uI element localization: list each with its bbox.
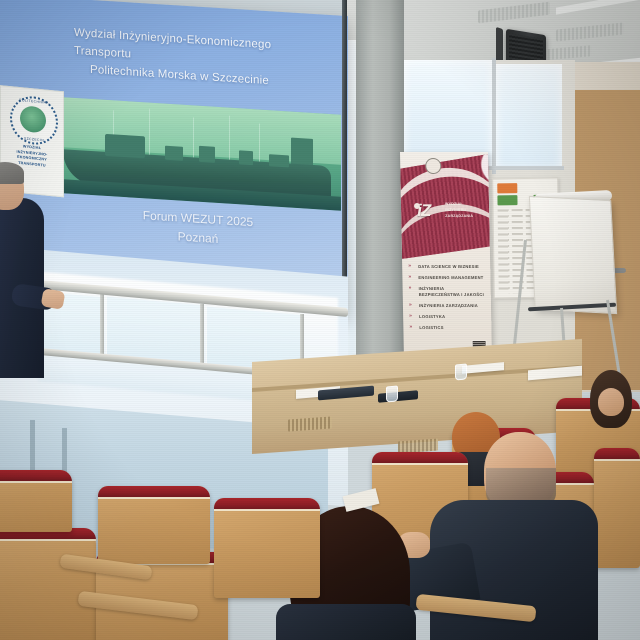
- banner-list-item: LOGISTYKA: [409, 314, 487, 320]
- banner-logo-subtitle: WYDZIAŁ INŻYNIERII ZARZĄDZANIA: [445, 202, 487, 219]
- back-window: [496, 64, 562, 170]
- seat[interactable]: [0, 528, 96, 640]
- attendee-right-head: [598, 388, 624, 416]
- banner-logo-text: iZ: [417, 200, 443, 222]
- banner-logo-subtitle-3: ZARZĄDZANIA: [445, 214, 487, 220]
- seat-trim: [0, 470, 72, 483]
- poster-text-column: [498, 209, 510, 293]
- seat[interactable]: [98, 486, 210, 564]
- seat[interactable]: [214, 498, 320, 598]
- seat[interactable]: [594, 448, 640, 568]
- screen-frame-right: [342, 0, 347, 288]
- balustrade-post: [100, 294, 104, 358]
- slide-subtitle: Forum WEZUT 2025 Poznań: [88, 203, 308, 255]
- window-mullion: [492, 58, 496, 174]
- crane-mast-icon: [229, 116, 230, 164]
- banner-list-item: DATA SCIENCE W BIZNESIE: [408, 264, 486, 270]
- poster-box-green: [497, 195, 517, 205]
- concrete-column: [356, 0, 404, 395]
- glass-balustrade-panel: [106, 296, 204, 365]
- seat-trim: [214, 498, 320, 511]
- banner-program-list: DATA SCIENCE W BIZNESIE ENGINEERING MANA…: [408, 264, 487, 336]
- balustrade-post: [200, 304, 204, 368]
- water-glass[interactable]: [455, 363, 467, 380]
- seal-ring-bottom: SZCZECIN: [12, 135, 56, 143]
- ship-deck-structure: [199, 146, 215, 163]
- seal-ring-text: POLITECHNIKA SZCZECIN: [12, 96, 56, 144]
- flipchart-easel: [529, 196, 617, 314]
- attendee-front-left-body: [276, 604, 416, 640]
- banner-crest-icon: [425, 158, 441, 174]
- crane-mast-icon: [149, 109, 150, 159]
- seat[interactable]: [0, 470, 72, 532]
- slide-photo: [53, 97, 341, 211]
- seat-trim: [594, 448, 640, 461]
- poster-box-orange: [497, 183, 517, 193]
- university-seal-icon: POLITECHNIKA SZCZECIN: [10, 94, 58, 147]
- banner-list-item: INŻYNIERIA ZARZĄDZANIA: [409, 302, 487, 308]
- rollup-banner: iZ WYDZIAŁ INŻYNIERII ZARZĄDZANIA DATA S…: [400, 152, 492, 360]
- seat-trim: [372, 452, 468, 465]
- seat-trim: [98, 486, 210, 499]
- water-glass[interactable]: [386, 385, 398, 402]
- ship-deck-structure: [165, 146, 183, 161]
- banner-list-item: INŻYNIERIA BEZPIECZEŃSTWA I JAKOŚCI: [409, 286, 487, 297]
- seal-ring-top: POLITECHNIKA: [12, 97, 56, 105]
- conference-photo-scene: Wydział Inżynieryjno-Ekonomicznego Trans…: [0, 0, 640, 640]
- slide-title: Wydział Inżynieryjno-Ekonomicznego Trans…: [74, 25, 324, 94]
- ship-deck-structure: [269, 154, 289, 167]
- ship-deck-structure: [239, 150, 253, 165]
- banner-list-item: LOGISTICS: [409, 325, 487, 331]
- presenter-hand: [41, 288, 66, 310]
- crane-mast-icon: [193, 117, 194, 161]
- ship-superstructure: [105, 134, 145, 159]
- banner-list-item: ENGINEERING MANAGEMENT: [408, 275, 486, 281]
- crane-mast-icon: [259, 124, 260, 166]
